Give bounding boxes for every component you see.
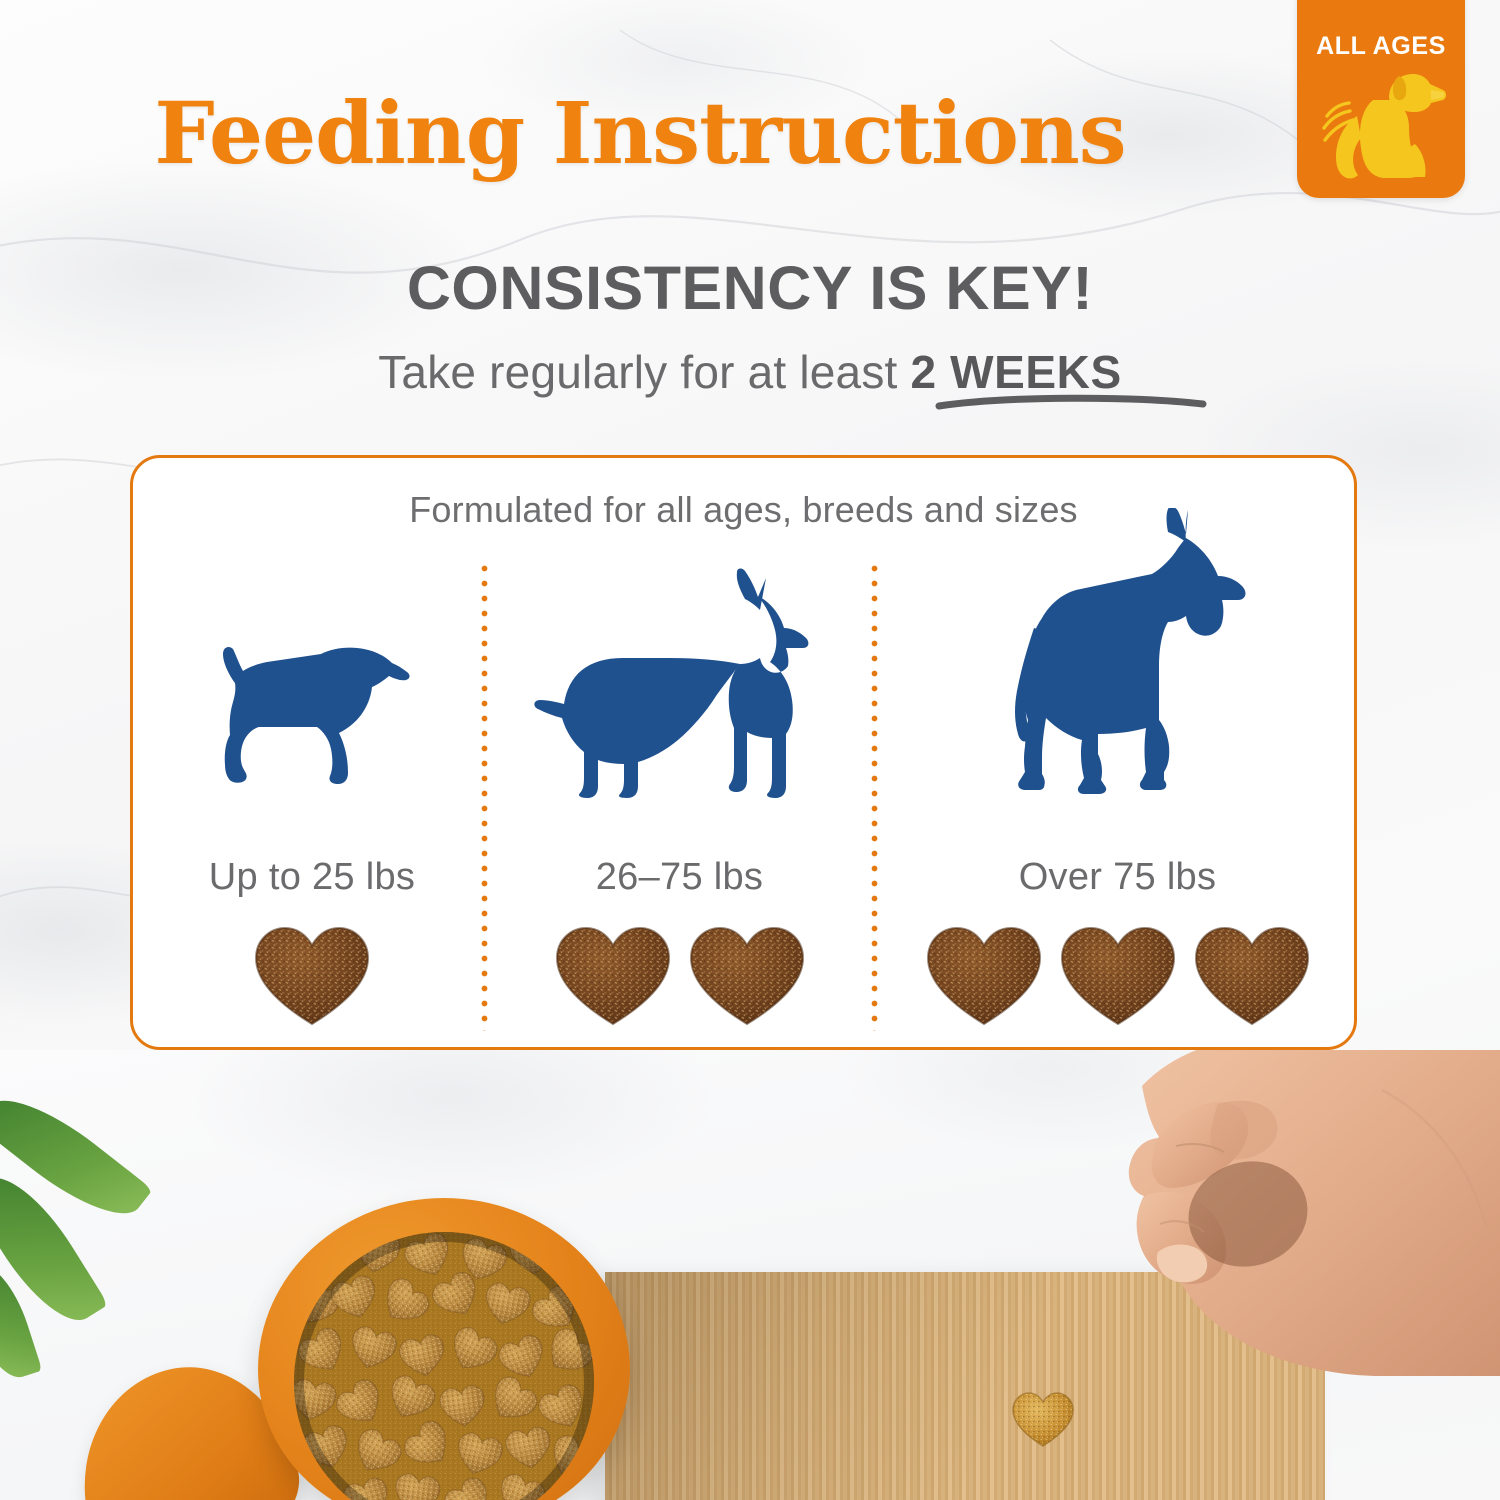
size-column-large: Over 75 lbs [878,518,1357,1038]
kibble-heart-icon [1190,918,1314,1030]
emphasis-underline-decor [935,393,1207,411]
medium-dog-silhouette-icon [530,566,830,798]
kibble-heart-icon [1056,918,1180,1030]
column-divider-1 [481,561,488,1031]
all-ages-badge: ALL AGES [1297,0,1465,198]
infographic-canvas: ALL AGES Feeding Instructions CONSISTENC… [0,0,1500,1500]
kibble-heart-icon [685,918,809,1030]
page-title: Feeding Instructions [0,84,1280,184]
tagline-prefix: Take regularly for at least [378,346,910,398]
kibble-row-large [878,918,1357,1030]
dog-icon-slot [488,498,871,798]
kibble-in-hand-icon [1010,1388,1076,1450]
dog-icon-slot [143,498,481,798]
size-label: Over 75 lbs [878,856,1357,899]
feeding-chart-card: Formulated for all ages, breeds and size… [130,455,1357,1050]
size-column-small: Up to 25 lbs [143,518,481,1038]
dog-icon-slot [878,498,1357,798]
tagline-emphasis: 2 WEEKS [911,346,1122,398]
tagline: Take regularly for at least 2 WEEKS [0,345,1500,399]
small-dog-silhouette-icon [205,623,420,798]
orange-dog-bowl [258,1198,630,1500]
subtitle-heading: CONSISTENCY IS KEY! [0,253,1500,323]
kibble-row-small [143,918,481,1030]
large-dog-silhouette-icon [972,508,1264,798]
sitting-dog-icon [1313,56,1453,188]
hand-holding-kibble [962,1050,1500,1406]
kibble-heart-icon [250,918,374,1030]
kibble-heart-icon [922,918,1046,1030]
kibble-heart-icon [551,918,675,1030]
lifestyle-photo [0,1050,1500,1500]
size-label: Up to 25 lbs [143,856,481,899]
heart-kibble-pile [294,1232,594,1500]
size-column-medium: 26–75 lbs [488,518,871,1038]
size-label: 26–75 lbs [488,856,871,899]
column-divider-2 [871,561,878,1031]
kibble-row-medium [488,918,871,1030]
bowl-kibble-fill [294,1232,594,1500]
